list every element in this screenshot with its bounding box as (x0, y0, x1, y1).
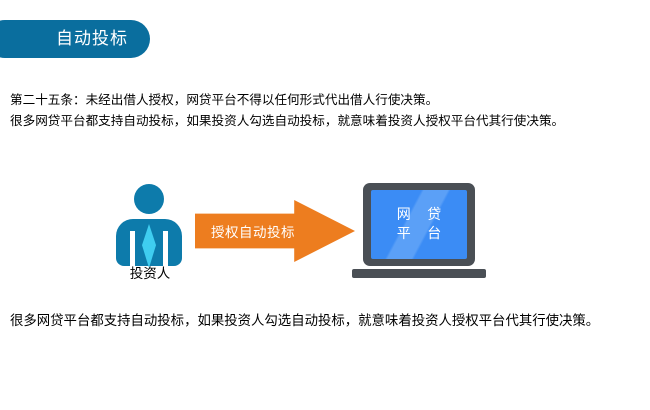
authorization-flow-diagram: 投资人 授权自动投标 网 贷 平 台 (0, 170, 650, 295)
title-banner: 自动投标 (0, 20, 150, 58)
laptop-base (352, 269, 486, 278)
investor-label: 投资人 (98, 262, 202, 282)
platform-screen-line-1: 网 贷 (391, 207, 447, 223)
laptop-screen: 网 贷 平 台 (371, 190, 467, 259)
page-title: 自动投标 (56, 31, 128, 48)
authorization-arrow-label-wrap: 授权自动投标 (195, 200, 355, 262)
person-head-icon (134, 184, 164, 214)
platform-screen-line-2: 平 台 (391, 226, 447, 242)
paragraph-top-line-1: 第二十五条：未经出借人授权，网贷平台不得以任何形式代出借人行使决策。 (10, 89, 644, 110)
investor-person-icon (114, 184, 184, 259)
paragraph-top-line-2: 很多网贷平台都支持自动投标，如果投资人勾选自动投标，就意味着投资人授权平台代其行… (10, 110, 644, 131)
body-paragraph-bottom: 很多网贷平台都支持自动投标，如果投资人勾选自动投标，就意味着投资人授权平台代其行… (10, 312, 644, 332)
authorization-arrow-label: 授权自动投标 (211, 221, 295, 241)
laptop-lid: 网 贷 平 台 (363, 183, 475, 266)
platform-laptop-icon: 网 贷 平 台 (352, 183, 486, 286)
body-paragraph-top: 第二十五条：未经出借人授权，网贷平台不得以任何形式代出借人行使决策。 很多网贷平… (10, 89, 644, 131)
